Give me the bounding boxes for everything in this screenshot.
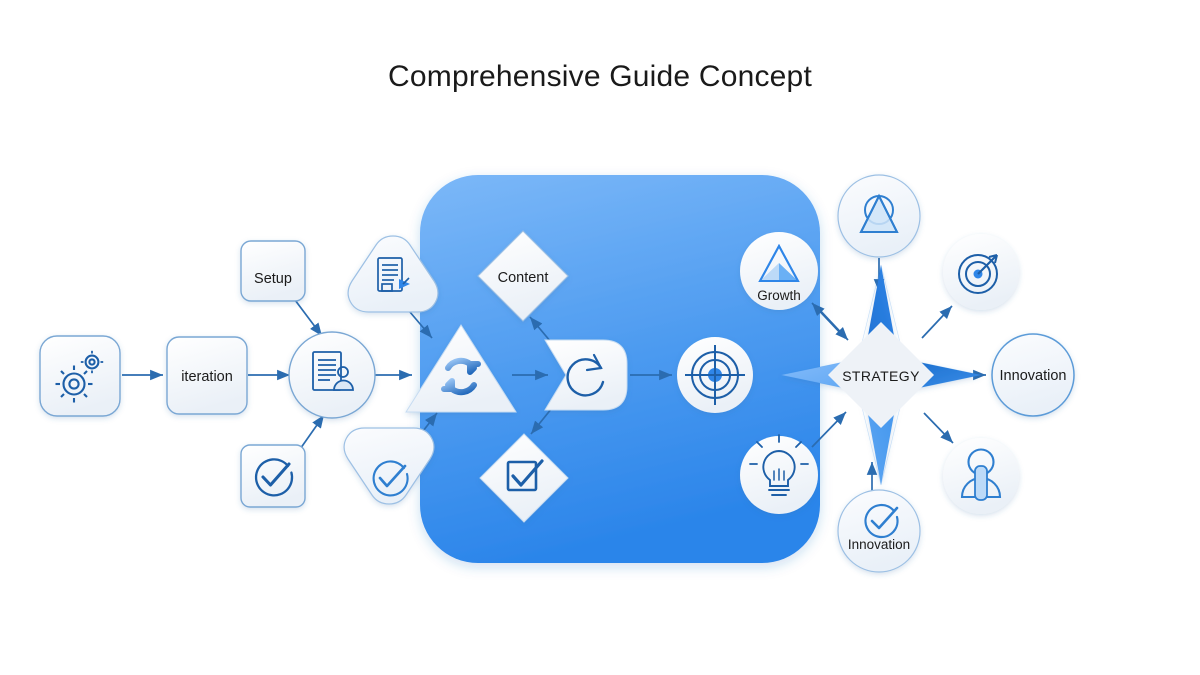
node-check-square[interactable]: [241, 445, 305, 507]
node-label-growth: Growth: [757, 288, 801, 303]
node-person[interactable]: [943, 438, 1019, 514]
node-target[interactable]: [677, 337, 753, 413]
node-innovation[interactable]: Innovation: [992, 334, 1074, 416]
node-gears[interactable]: [40, 336, 120, 416]
node-label-setup: Setup: [254, 271, 292, 287]
connector-star-person: [924, 413, 953, 443]
node-label-content: Content: [498, 270, 549, 286]
connector-setup-doc: [295, 300, 322, 336]
node-label-innovation: Innovation: [1000, 368, 1067, 384]
node-doc-person[interactable]: [289, 332, 375, 418]
connector-star-targetarrow: [922, 306, 952, 338]
node-innovation-check[interactable]: Innovation: [838, 490, 920, 572]
node-growth[interactable]: Growth: [740, 232, 818, 310]
node-iteration[interactable]: iteration: [167, 337, 247, 414]
diagram-canvas: Comprehensive Guide Concept: [0, 0, 1200, 675]
node-target-arrow[interactable]: [943, 234, 1019, 310]
node-peak[interactable]: [838, 175, 920, 257]
node-label-innovation-check: Innovation: [848, 537, 910, 552]
node-label-strategy: STRATEGY: [842, 368, 920, 384]
node-label-iteration: iteration: [181, 369, 233, 385]
diagram-svg: iteration Setup: [0, 0, 1200, 675]
node-setup[interactable]: Setup: [241, 241, 305, 301]
